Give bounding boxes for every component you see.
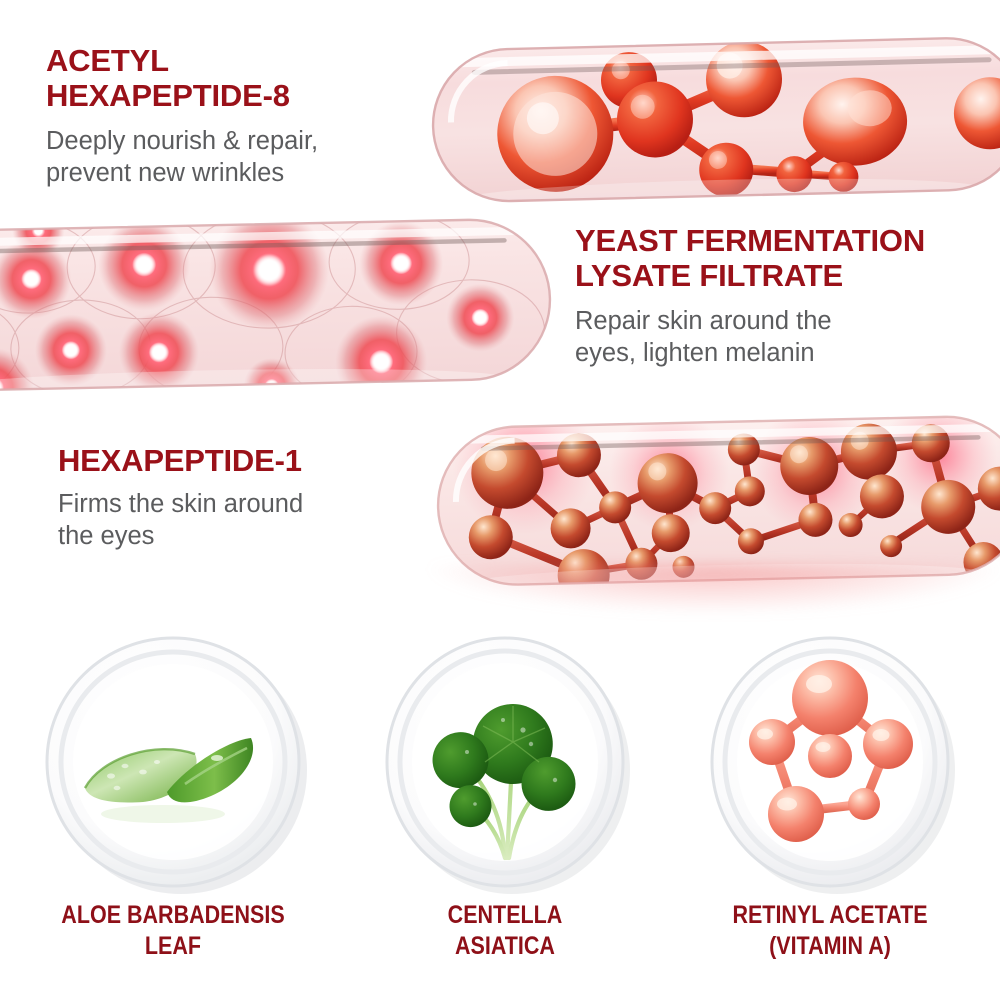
ingredient-row: ALOE BARBADENSIS LEAF: [0, 628, 1000, 1000]
ingredient-label: CENTELLA ASIATICA: [363, 900, 647, 961]
feature-description: Deeply nourish & repair, prevent new wri…: [46, 125, 386, 189]
ingredient-retinyl-acetate: RETINYL ACETATE (VITAMIN A): [665, 628, 995, 1000]
feature-heading: ACETYL HEXAPEPTIDE-8: [46, 43, 386, 114]
feature-description: Firms the skin around the eyes: [58, 488, 398, 552]
ingredient-label: ALOE BARBADENSIS LEAF: [31, 900, 315, 961]
capsule-hexapeptide-1: [420, 400, 1000, 610]
centella-plant-icon: [360, 628, 650, 898]
feature-description: Repair skin around the eyes, lighten mel…: [575, 305, 995, 369]
capsule-acetyl-hexapeptide-8: [415, 20, 1000, 225]
ingredient-label: RETINYL ACETATE (VITAMIN A): [688, 900, 972, 961]
feature-heading: HEXAPEPTIDE-1: [58, 443, 398, 478]
infographic-canvas: ACETYL HEXAPEPTIDE-8 Deeply nourish & re…: [0, 0, 1000, 1000]
molecule-lattice-capsule-graphic: [420, 400, 1000, 605]
feature-text-hexapeptide-1: HEXAPEPTIDE-1 Firms the skin around the …: [58, 443, 398, 553]
pentagon-molecule-icon: [685, 628, 975, 898]
feature-text-acetyl-hexapeptide-8: ACETYL HEXAPEPTIDE-8 Deeply nourish & re…: [46, 43, 386, 189]
cell-burst-capsule-graphic: [0, 205, 570, 405]
molecule-chain-capsule-graphic: [415, 20, 1000, 220]
capsule-yeast-fermentation: [0, 205, 570, 410]
ingredient-centella-asiatica: CENTELLA ASIATICA: [340, 628, 670, 1000]
ingredient-aloe-barbadensis-leaf: ALOE BARBADENSIS LEAF: [8, 628, 338, 1000]
aloe-leaf-icon: [23, 628, 323, 898]
feature-heading: YEAST FERMENTATION LYSATE FILTRATE: [575, 223, 995, 294]
feature-text-yeast-fermentation: YEAST FERMENTATION LYSATE FILTRATE Repai…: [575, 223, 995, 369]
